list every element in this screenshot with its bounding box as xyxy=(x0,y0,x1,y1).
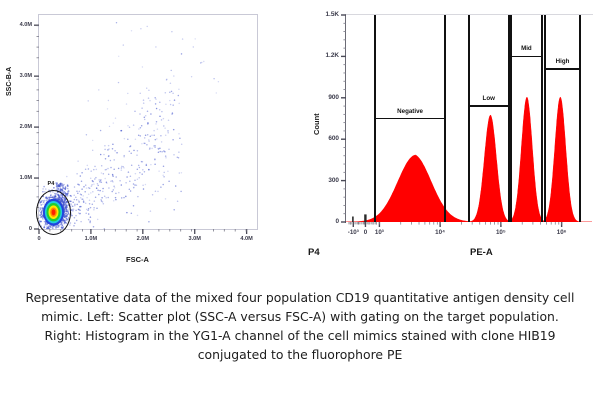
gate-high-count-bar[interactable] xyxy=(545,68,580,70)
gate-low-count-bar[interactable] xyxy=(469,105,509,107)
scatter-y-tick: 3.0M xyxy=(20,73,32,79)
histogram-corner-label-p4: P4 xyxy=(308,247,320,258)
gate-mid-label: Mid xyxy=(504,45,548,52)
gate-high-label: High xyxy=(541,58,585,65)
histogram-x-tick: 10⁶ xyxy=(551,229,573,236)
figure-caption: Representative data of the mixed four po… xyxy=(0,288,600,364)
caption-line-4: conjugated to the fluorophore PE xyxy=(0,345,600,364)
histogram-x-tick: 10⁵ xyxy=(490,229,512,236)
histogram-x-axis-label: PE-A xyxy=(470,247,493,258)
histogram-x-tick: 10³ xyxy=(368,229,390,236)
caption-line-2: mimic. Left: Scatter plot (SSC-A versus … xyxy=(0,307,600,326)
scatter-x-axis-label: FSC-A xyxy=(126,255,149,264)
gate-p4-label: P4 xyxy=(48,181,55,187)
scatter-y-tick: 2.0M xyxy=(20,124,32,130)
scatter-x-tick: 2.0M xyxy=(134,236,152,242)
gate-low-label: Low xyxy=(467,95,511,102)
gate-p4-oval[interactable] xyxy=(36,190,71,235)
flow-cytometry-figure: SSC-B-A FSC-A 01.0M2.0M3.0M4.0M 01.0M2.0… xyxy=(0,0,600,285)
histogram-y-tick: 900 xyxy=(328,94,339,101)
histogram-y-tick: 300 xyxy=(328,177,339,184)
gate-low-left-boundary[interactable] xyxy=(468,15,470,222)
scatter-plot-panel: SSC-B-A FSC-A 01.0M2.0M3.0M4.0M 01.0M2.0… xyxy=(0,0,300,285)
histogram-y-tick: 0 xyxy=(335,218,339,225)
scatter-y-tick: 4.0M xyxy=(20,22,32,28)
scatter-x-tick: 0 xyxy=(30,236,48,242)
gate-negative-label: Negative xyxy=(388,108,432,115)
histogram-y-tick: 600 xyxy=(328,135,339,142)
gate-high-left-boundary[interactable] xyxy=(544,15,546,222)
gate-high-right-boundary[interactable] xyxy=(579,15,581,222)
scatter-x-tick: 3.0M xyxy=(186,236,204,242)
histogram-y-tick: 1.5K xyxy=(326,11,340,18)
scatter-y-tick: 1.0M xyxy=(20,175,32,181)
histogram-panel: Count PE-A P4 03006009001.2K1.5K -10³010… xyxy=(300,0,600,285)
scatter-x-tick: 4.0M xyxy=(238,236,256,242)
histogram-x-tick: 10⁴ xyxy=(429,229,451,236)
histogram-y-tick: 1.2K xyxy=(326,52,340,59)
scatter-points-canvas xyxy=(39,15,257,229)
scatter-plot-frame xyxy=(38,14,258,230)
scatter-y-tick: 0 xyxy=(29,226,32,232)
histogram-y-axis-label: Count xyxy=(312,113,321,135)
gate-negative-count-bar[interactable] xyxy=(375,118,445,120)
gate-mid-count-bar[interactable] xyxy=(511,56,543,58)
caption-line-1: Representative data of the mixed four po… xyxy=(0,288,600,307)
scatter-y-axis-label: SSC-B-A xyxy=(6,67,13,96)
caption-line-3: Right: Histogram in the YG1-A channel of… xyxy=(0,326,600,345)
scatter-x-tick: 1.0M xyxy=(82,236,100,242)
